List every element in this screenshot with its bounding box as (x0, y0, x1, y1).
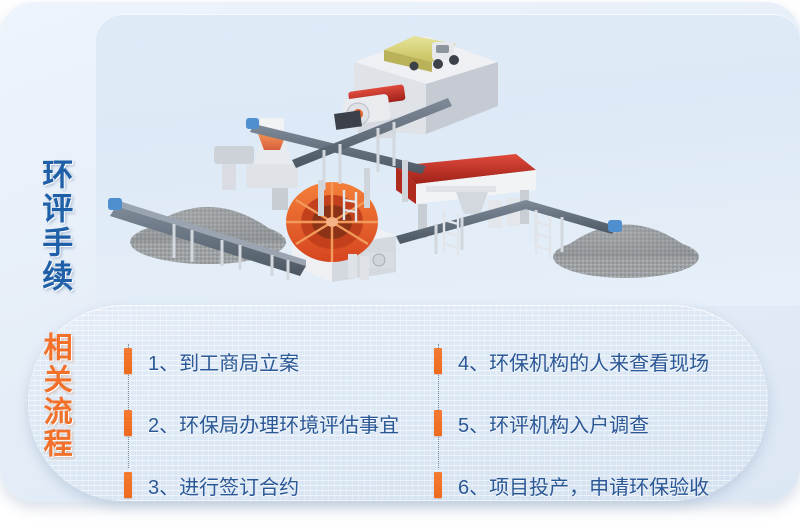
list-item[interactable]: 1、到工商局立案 (124, 330, 424, 392)
step-marker-icon (124, 348, 132, 374)
list-item[interactable]: 3、进行签订合约 (124, 454, 424, 516)
step-marker-icon (434, 348, 442, 374)
process-column-left: 1、到工商局立案 2、环保局办理环境评估事宜 3、进行签订合约 (124, 330, 424, 516)
list-item[interactable]: 4、环保机构的人来查看现场 (434, 330, 754, 392)
section-title-flow: 相关流程 (40, 332, 70, 460)
list-item-label: 2、环保局办理环境评估事宜 (148, 409, 399, 438)
illustration-panel (96, 14, 800, 306)
step-marker-icon (124, 472, 132, 498)
step-marker-icon (124, 410, 132, 436)
process-column-right: 4、环保机构的人来查看现场 5、环评机构入户调查 6、项目投产，申请环保验收 (434, 330, 754, 516)
aggregate-pile-right (553, 225, 699, 279)
list-item[interactable]: 5、环评机构入户调查 (434, 392, 754, 454)
list-item-label: 1、到工商局立案 (148, 347, 299, 376)
infographic-root: 环评手续 相关流程 1、到工商局立案 2、环保局办理环境评估事宜 3、进行签订合… (0, 0, 800, 530)
step-marker-icon (434, 472, 442, 498)
list-item-label: 6、项目投产，申请环保验收 (458, 471, 709, 500)
production-line-illustration (96, 14, 800, 306)
page-title-eia: 环评手续 (38, 158, 70, 294)
list-item[interactable]: 2、环保局办理环境评估事宜 (124, 392, 424, 454)
step-marker-icon (434, 410, 442, 436)
list-item[interactable]: 6、项目投产，申请环保验收 (434, 454, 754, 516)
list-item-label: 3、进行签订合约 (148, 471, 299, 500)
list-item-label: 4、环保机构的人来查看现场 (458, 347, 709, 376)
list-item-label: 5、环评机构入户调查 (458, 409, 649, 438)
